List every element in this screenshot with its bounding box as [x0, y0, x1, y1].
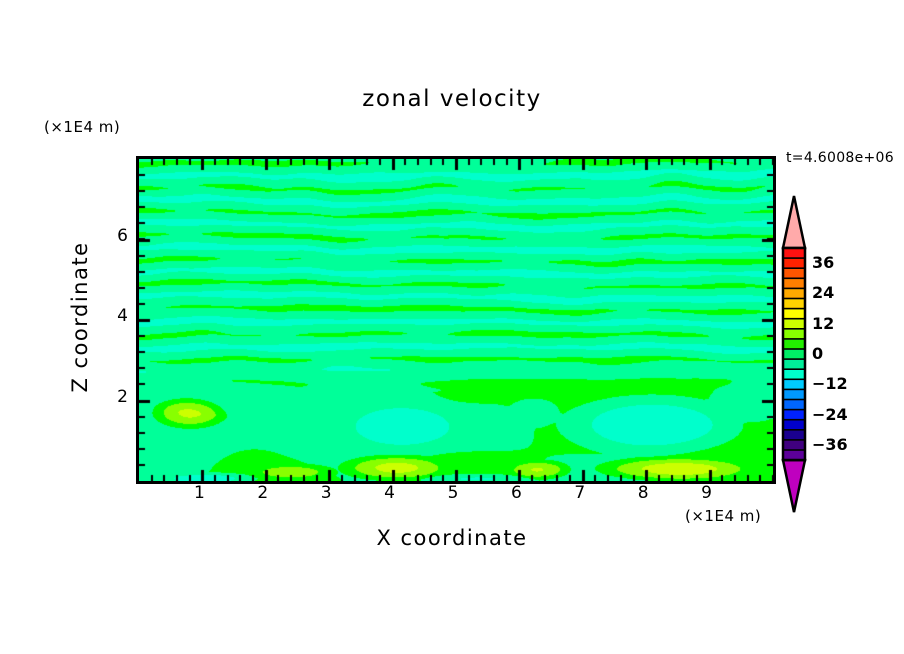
colorbar-segment-11: [783, 359, 805, 370]
x-tick-label-7: 7: [560, 483, 600, 503]
x-tick-label-6: 6: [496, 483, 536, 503]
colorbar-tick-label-0: 36: [812, 253, 834, 272]
colorbar-under-arrow: [783, 460, 805, 512]
colorbar-segment-13: [783, 379, 805, 390]
time-stamp-label: t=4.6008e+06: [786, 150, 894, 166]
y-tick-label-4: 4: [88, 306, 128, 326]
colorbar-segment-3: [783, 278, 805, 289]
colorbar-tick-label-2: 12: [812, 314, 834, 333]
x-tick-label-4: 4: [370, 483, 410, 503]
colorbar-segment-18: [783, 430, 805, 441]
colorbar-segment-14: [783, 389, 805, 400]
colorbar-graphic: [778, 190, 904, 525]
colorbar-segment-5: [783, 299, 805, 310]
x-axis-title: X coordinate: [0, 526, 904, 550]
colorbar-over-arrow: [783, 196, 805, 248]
x-tick-label-5: 5: [433, 483, 473, 503]
colorbar-segment-15: [783, 400, 805, 411]
colorbar-segment-1: [783, 258, 805, 269]
x-tick-label-9: 9: [687, 483, 727, 503]
x-tick-label-8: 8: [623, 483, 663, 503]
x-tick-label-2: 2: [243, 483, 283, 503]
colorbar-segment-16: [783, 410, 805, 421]
y-tick-label-2: 2: [88, 387, 128, 407]
colorbar-segment-17: [783, 420, 805, 431]
colorbar-tick-label-1: 24: [812, 283, 834, 302]
colorbar-segment-10: [783, 349, 805, 360]
colorbar-segment-9: [783, 339, 805, 350]
x-tick-label-1: 1: [179, 483, 219, 503]
colorbar-segment-4: [783, 288, 805, 299]
colorbar-segment-7: [783, 319, 805, 330]
colorbar[interactable]: 3624120−12−24−36: [778, 190, 904, 525]
colorbar-segment-19: [783, 440, 805, 451]
colorbar-segment-0: [783, 248, 805, 259]
x-tick-label-3: 3: [306, 483, 346, 503]
page-title: zonal velocity: [0, 86, 904, 112]
colorbar-segment-6: [783, 309, 805, 320]
colorbar-segment-2: [783, 268, 805, 279]
y-tick-label-6: 6: [88, 226, 128, 246]
colorbar-segment-12: [783, 369, 805, 380]
y-axis-unit-label: (×1E4 m): [44, 118, 120, 136]
colorbar-tick-label-5: −24: [812, 405, 848, 424]
colorbar-segment-8: [783, 329, 805, 340]
contour-plot-area[interactable]: [136, 156, 776, 484]
contour-field: [139, 159, 773, 481]
colorbar-tick-label-6: −36: [812, 435, 848, 454]
colorbar-tick-label-3: 0: [812, 344, 823, 363]
x-axis-unit-label: (×1E4 m): [685, 507, 761, 525]
colorbar-tick-label-4: −12: [812, 374, 848, 393]
